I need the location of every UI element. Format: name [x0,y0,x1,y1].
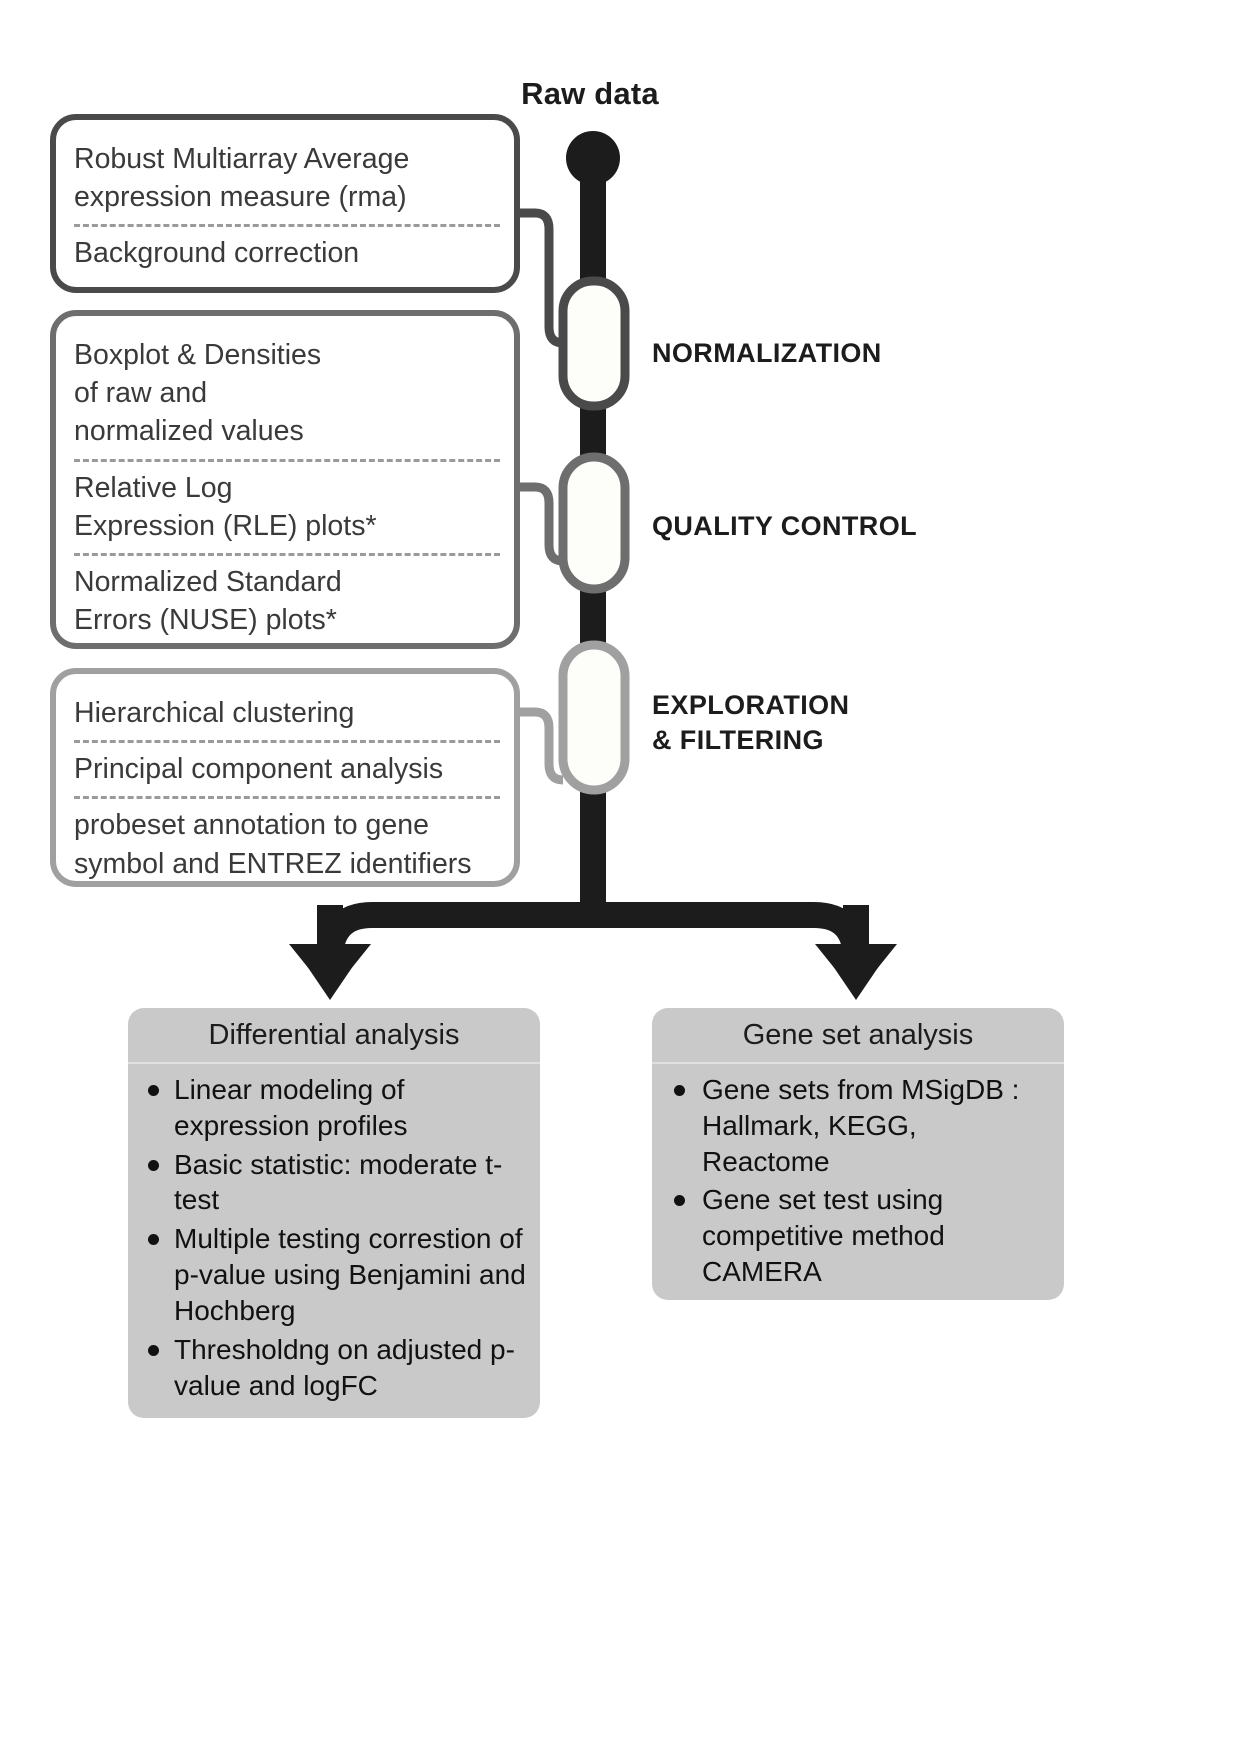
stage-item: Principal component analysis [74,740,500,796]
stage-item: Relative Log Expression (RLE) plots* [74,459,500,553]
bullet-icon [148,1160,159,1171]
result-panel-title: Gene set analysis [652,1008,1064,1064]
arrow-tip-differential-icon [292,944,368,1000]
result-panel-title: Differential analysis [128,1008,540,1064]
stage-node-exploration-icon [563,645,625,790]
start-node-icon [566,131,620,185]
connector-quality-control [517,487,563,561]
bullet-icon [148,1345,159,1356]
stage-box-quality-control: Boxplot & Densities of raw and normalize… [50,310,520,649]
connector-normalization [517,213,563,343]
list-item-label: Gene set test using competitive method C… [702,1184,945,1287]
stage-label-normalization: NORMALIZATION [652,336,882,371]
stage-box-normalization: Robust Multiarray Average expression mea… [50,114,520,293]
spine-segment-2 [580,585,606,645]
list-item: Gene set test using competitive method C… [668,1182,1050,1289]
spine-segment-top [580,160,606,290]
bullet-icon [674,1195,685,1206]
list-item-label: Linear modeling of expression profiles [174,1074,407,1141]
stage-item: Robust Multiarray Average expression mea… [74,133,500,224]
list-item: Multiple testing correstion of p-value u… [144,1221,526,1328]
spine-segment-3 [580,785,606,910]
stage-label-exploration: EXPLORATION & FILTERING [652,688,849,757]
list-item-label: Thresholdng on adjusted p-value and logF… [174,1334,515,1401]
bullet-icon [148,1085,159,1096]
bullet-icon [674,1085,685,1096]
list-item: Basic statistic: moderate t-test [144,1147,526,1219]
stage-item: probeset annotation to gene symbol and E… [74,796,500,890]
result-bullet-list: Linear modeling of expression profiles B… [128,1064,540,1418]
diagram-canvas: Raw data Robust Multiarray Average expre… [0,0,1240,1753]
stage-item: Background correction [74,224,500,280]
list-item-label: Gene sets from MSigDB : Hallmark, KEGG, … [702,1074,1019,1177]
connector-exploration [517,712,563,780]
arrow-tip-geneset-icon [818,944,894,1000]
arrow-head-geneset-icon [815,905,897,995]
page-title: Raw data [440,76,740,112]
spine-segment-1 [580,400,606,460]
arrow-head-differential-icon [289,905,371,995]
branch-fork [330,915,856,960]
result-panel-geneset: Gene set analysis Gene sets from MSigDB … [652,1008,1064,1300]
stage-item: Normalized Standard Errors (NUSE) plots* [74,553,500,647]
stage-item: Boxplot & Densities of raw and normalize… [74,329,500,459]
stage-item: Hierarchical clustering [74,687,500,740]
stage-node-quality-control-icon [563,457,625,589]
stage-label-quality-control: QUALITY CONTROL [652,509,917,544]
result-bullet-list: Gene sets from MSigDB : Hallmark, KEGG, … [652,1064,1064,1300]
result-panel-differential: Differential analysis Linear modeling of… [128,1008,540,1418]
list-item: Gene sets from MSigDB : Hallmark, KEGG, … [668,1072,1050,1179]
bullet-icon [148,1234,159,1245]
stage-node-normalization-icon [563,281,625,406]
list-item-label: Multiple testing correstion of p-value u… [174,1223,526,1326]
list-item: Thresholdng on adjusted p-value and logF… [144,1332,526,1404]
list-item-label: Basic statistic: moderate t-test [174,1149,502,1216]
list-item: Linear modeling of expression profiles [144,1072,526,1144]
stage-box-exploration: Hierarchical clustering Principal compon… [50,668,520,887]
